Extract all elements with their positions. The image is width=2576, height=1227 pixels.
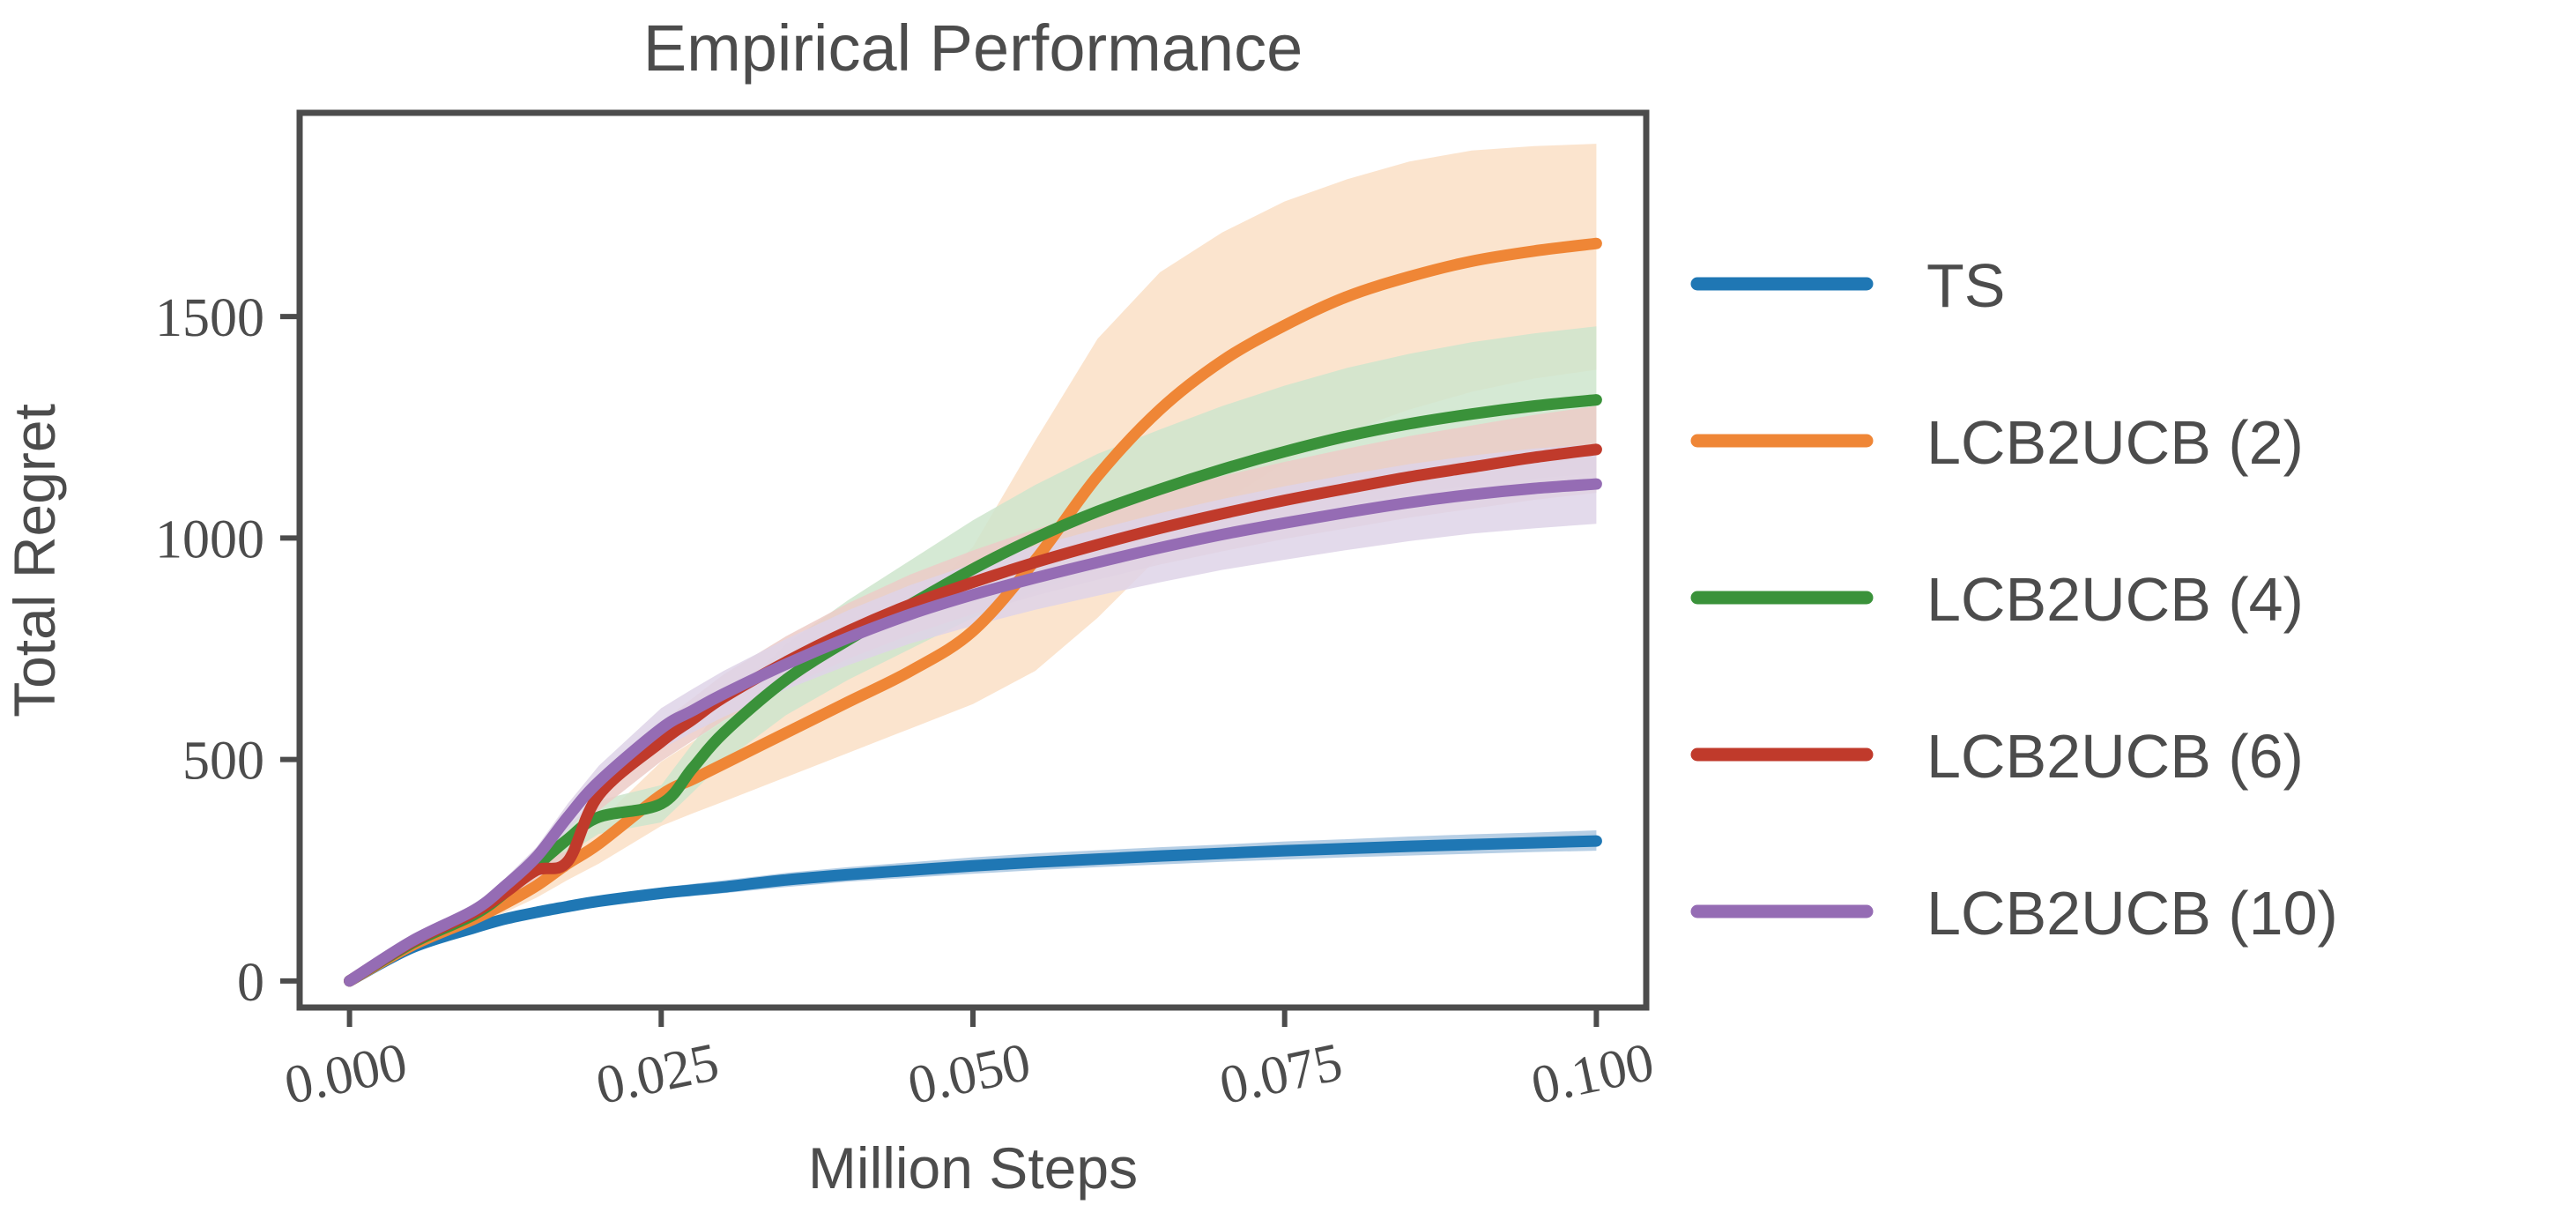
y-tick-label: 1500 [155, 288, 264, 348]
x-axis-ticks: 0.0000.0250.0500.0750.100 [279, 1008, 1659, 1116]
chart-title: Empirical Performance [643, 11, 1303, 85]
empirical-performance-chart: Empirical Performance 0.0000.0250.0500.0… [0, 0, 2576, 1227]
y-axis-label: Total Regret [2, 404, 67, 718]
chart-figure: Empirical Performance 0.0000.0250.0500.0… [0, 0, 2576, 1227]
x-axis-label: Million Steps [808, 1135, 1138, 1201]
x-tick-label: 0.025 [591, 1032, 724, 1117]
x-tick-label: 0.050 [903, 1032, 1036, 1117]
legend-label[interactable]: TS [1926, 251, 2005, 320]
legend-label[interactable]: LCB2UCB (6) [1926, 722, 2304, 791]
x-tick-label: 0.100 [1526, 1032, 1659, 1117]
x-tick-label: 0.000 [279, 1032, 412, 1117]
chart-legend: TSLCB2UCB (2)LCB2UCB (4)LCB2UCB (6)LCB2U… [1697, 251, 2338, 948]
y-axis-ticks: 050010001500 [155, 288, 300, 1013]
x-tick-label: 0.075 [1214, 1032, 1347, 1117]
legend-label[interactable]: LCB2UCB (2) [1926, 408, 2304, 477]
y-tick-label: 0 [237, 953, 264, 1013]
y-tick-label: 1000 [155, 509, 264, 569]
legend-label[interactable]: LCB2UCB (10) [1926, 879, 2338, 948]
y-tick-label: 500 [182, 732, 264, 792]
legend-label[interactable]: LCB2UCB (4) [1926, 565, 2304, 634]
